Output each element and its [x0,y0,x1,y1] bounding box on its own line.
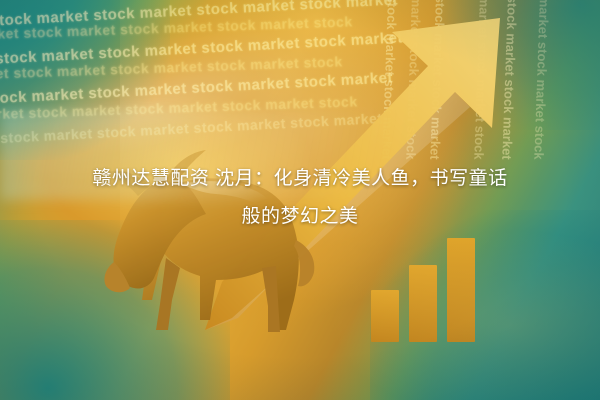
ticker-column: market stock market stock [471,0,492,160]
ticker-column: stock market stock market [427,0,448,160]
ticker-column: stock market stock market [499,0,520,160]
chart-bar-3 [447,238,475,342]
ticker-column: market stock market stock [403,0,424,160]
stock-market-banner-image: stock market stock market stock market s… [0,0,600,400]
headline-line-1: 赣州达慧配资 沈月：化身清冷美人鱼，书写童话 [92,168,507,189]
chart-bar-2 [409,265,437,342]
teal-glow-bottom-right [370,210,600,400]
headline-text: 赣州达慧配资 沈月：化身清冷美人鱼，书写童话 般的梦幻之美 [0,160,600,236]
headline-line-2: 般的梦幻之美 [0,198,600,236]
teal-glow-bottom-left [0,220,230,400]
ticker-column: stock market stock market [379,0,400,160]
stock-market-ticker-wall: stock market stock market stock market s… [0,0,600,175]
ticker-column: market stock market stock [531,0,552,160]
chart-bar-1 [371,290,399,342]
